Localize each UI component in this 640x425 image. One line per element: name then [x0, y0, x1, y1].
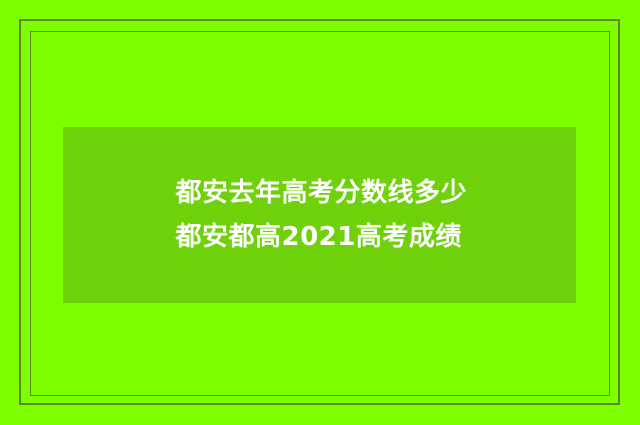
headline-text-block: 都安去年高考分数线多少 都安都高2021高考成绩: [63, 127, 576, 303]
headline-line-1: 都安去年高考分数线多少: [176, 171, 464, 215]
headline-line-2: 都安都高2021高考成绩: [176, 215, 464, 259]
poster-canvas: 都安去年高考分数线多少 都安都高2021高考成绩: [0, 0, 640, 425]
